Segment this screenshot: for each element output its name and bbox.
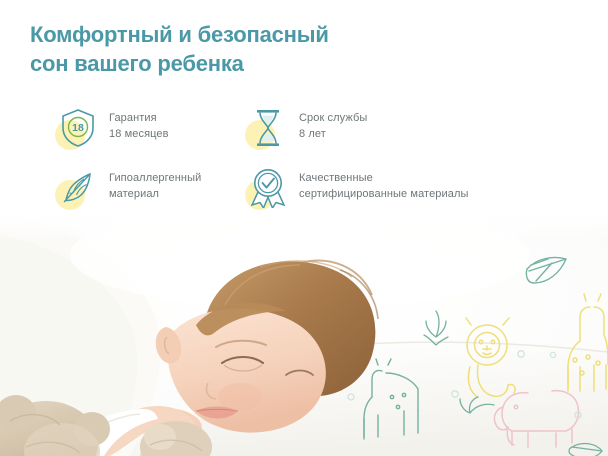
page-title: Комфортный и безопасный сон вашего ребен… xyxy=(30,20,470,79)
feature-line-2: сертифицированные материалы xyxy=(299,187,469,203)
promo-banner: Комфортный и безопасный сон вашего ребен… xyxy=(0,0,608,456)
feature-line-1: Качественные xyxy=(299,172,373,184)
feature-item-warranty: 18 Гарантия 18 месяцев xyxy=(55,105,245,165)
page-title-line-1: Комфортный и безопасный xyxy=(30,20,470,49)
feature-line-2: 18 месяцев xyxy=(109,127,169,143)
hourglass-icon xyxy=(245,105,291,151)
feature-item-lifespan: Срок службы 8 лет xyxy=(245,105,535,165)
feature-line-2: материал xyxy=(109,187,201,203)
feature-list: 18 Гарантия 18 месяцев xyxy=(55,105,535,225)
feature-line-1: Гарантия xyxy=(109,112,157,124)
feather-icon xyxy=(55,165,101,211)
svg-text:18: 18 xyxy=(72,122,84,134)
feature-text-warranty: Гарантия 18 месяцев xyxy=(109,105,169,142)
feature-text-hypoallergenic: Гипоаллергенный материал xyxy=(109,165,201,202)
sleeping-child-photo xyxy=(0,215,608,456)
shield-18-icon: 18 xyxy=(55,105,101,151)
feature-line-1: Срок службы xyxy=(299,112,367,124)
feature-text-certified: Качественные сертифицированные материалы xyxy=(299,165,469,202)
feature-text-lifespan: Срок службы 8 лет xyxy=(299,105,367,142)
feature-line-2: 8 лет xyxy=(299,127,367,143)
feature-line-1: Гипоаллергенный xyxy=(109,172,201,184)
page-title-line-2: сон вашего ребенка xyxy=(30,49,470,78)
award-rosette-icon xyxy=(245,165,291,211)
